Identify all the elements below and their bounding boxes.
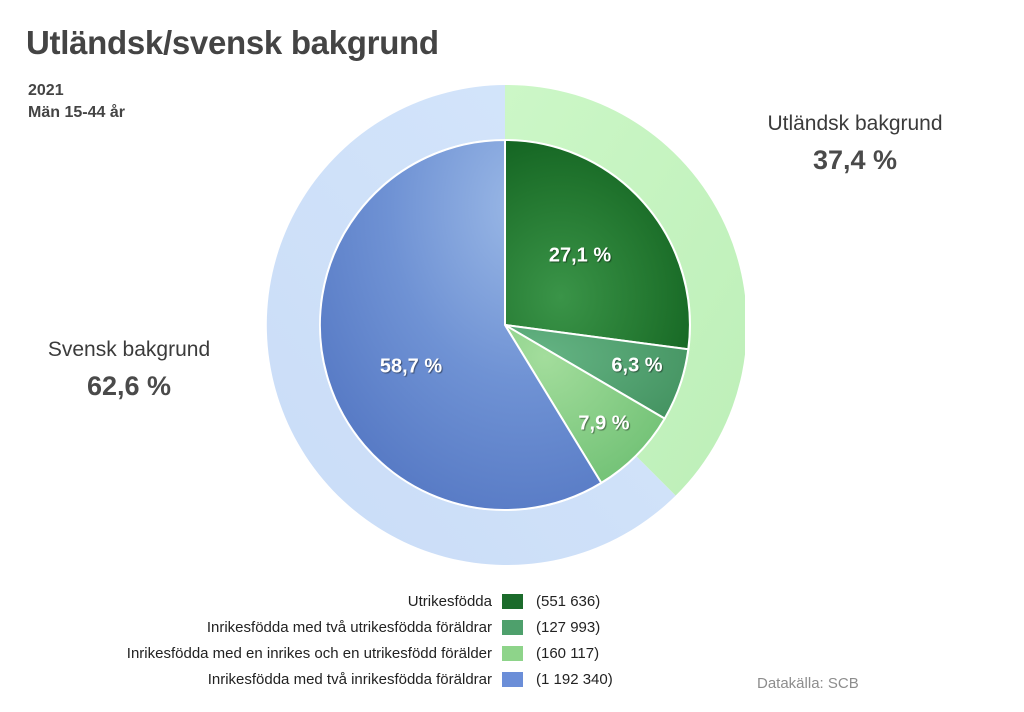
legend-value: (127 993): [524, 619, 600, 636]
legend-value: (551 636): [524, 593, 600, 610]
legend-label: Inrikesfödda med två inrikesfödda föräld…: [20, 671, 501, 688]
slice-value-utrikesfodda: 27,1 %: [549, 245, 611, 268]
legend-swatch-inrikes-en-inrikes-en-utrikes: [501, 645, 524, 662]
legend-label: Utrikesfödda: [20, 593, 501, 610]
legend-value: (160 117): [524, 645, 599, 662]
slice-value-inrikes-tva-utrikes: 6,3 %: [611, 355, 662, 378]
annotation-utlandsk-value: 37,4 %: [700, 145, 1010, 176]
legend-item: Utrikesfödda (551 636): [20, 588, 640, 614]
legend-item: Inrikesfödda med två utrikesfödda föräld…: [20, 614, 640, 640]
annotation-svensk-bakgrund: Svensk bakgrund 62,6 %: [4, 338, 254, 402]
legend-value: (1 192 340): [524, 671, 613, 688]
annotation-svensk-label: Svensk bakgrund: [4, 338, 254, 362]
slice-value-inrikes-tva-inrikes: 58,7 %: [380, 356, 442, 379]
annotation-utlandsk-label: Utländsk bakgrund: [700, 112, 1010, 136]
legend-item: Inrikesfödda med två inrikesfödda föräld…: [20, 666, 640, 692]
legend-swatch-inrikes-tva-utrikes: [501, 619, 524, 636]
annotation-utlandsk-bakgrund: Utländsk bakgrund 37,4 %: [700, 112, 1010, 176]
legend-swatch-utrikesfodda: [501, 593, 524, 610]
legend: Utrikesfödda (551 636) Inrikesfödda med …: [20, 588, 640, 692]
source-note: Datakälla: SCB: [757, 675, 859, 692]
legend-swatch-inrikes-tva-inrikes: [501, 671, 524, 688]
legend-label: Inrikesfödda med en inrikes och en utrik…: [20, 645, 501, 662]
slice-value-inrikes-en-inrikes-en-utrikes: 7,9 %: [578, 413, 629, 436]
annotation-svensk-value: 62,6 %: [4, 371, 254, 402]
inner-pie-chart: [320, 140, 690, 510]
pie-chart: [265, 85, 745, 565]
page-title: Utländsk/svensk bakgrund: [26, 24, 439, 62]
subtitle-year: 2021: [28, 82, 64, 100]
subtitle-group: Män 15-44 år: [28, 104, 125, 122]
legend-item: Inrikesfödda med en inrikes och en utrik…: [20, 640, 640, 666]
legend-label: Inrikesfödda med två utrikesfödda föräld…: [20, 619, 501, 636]
